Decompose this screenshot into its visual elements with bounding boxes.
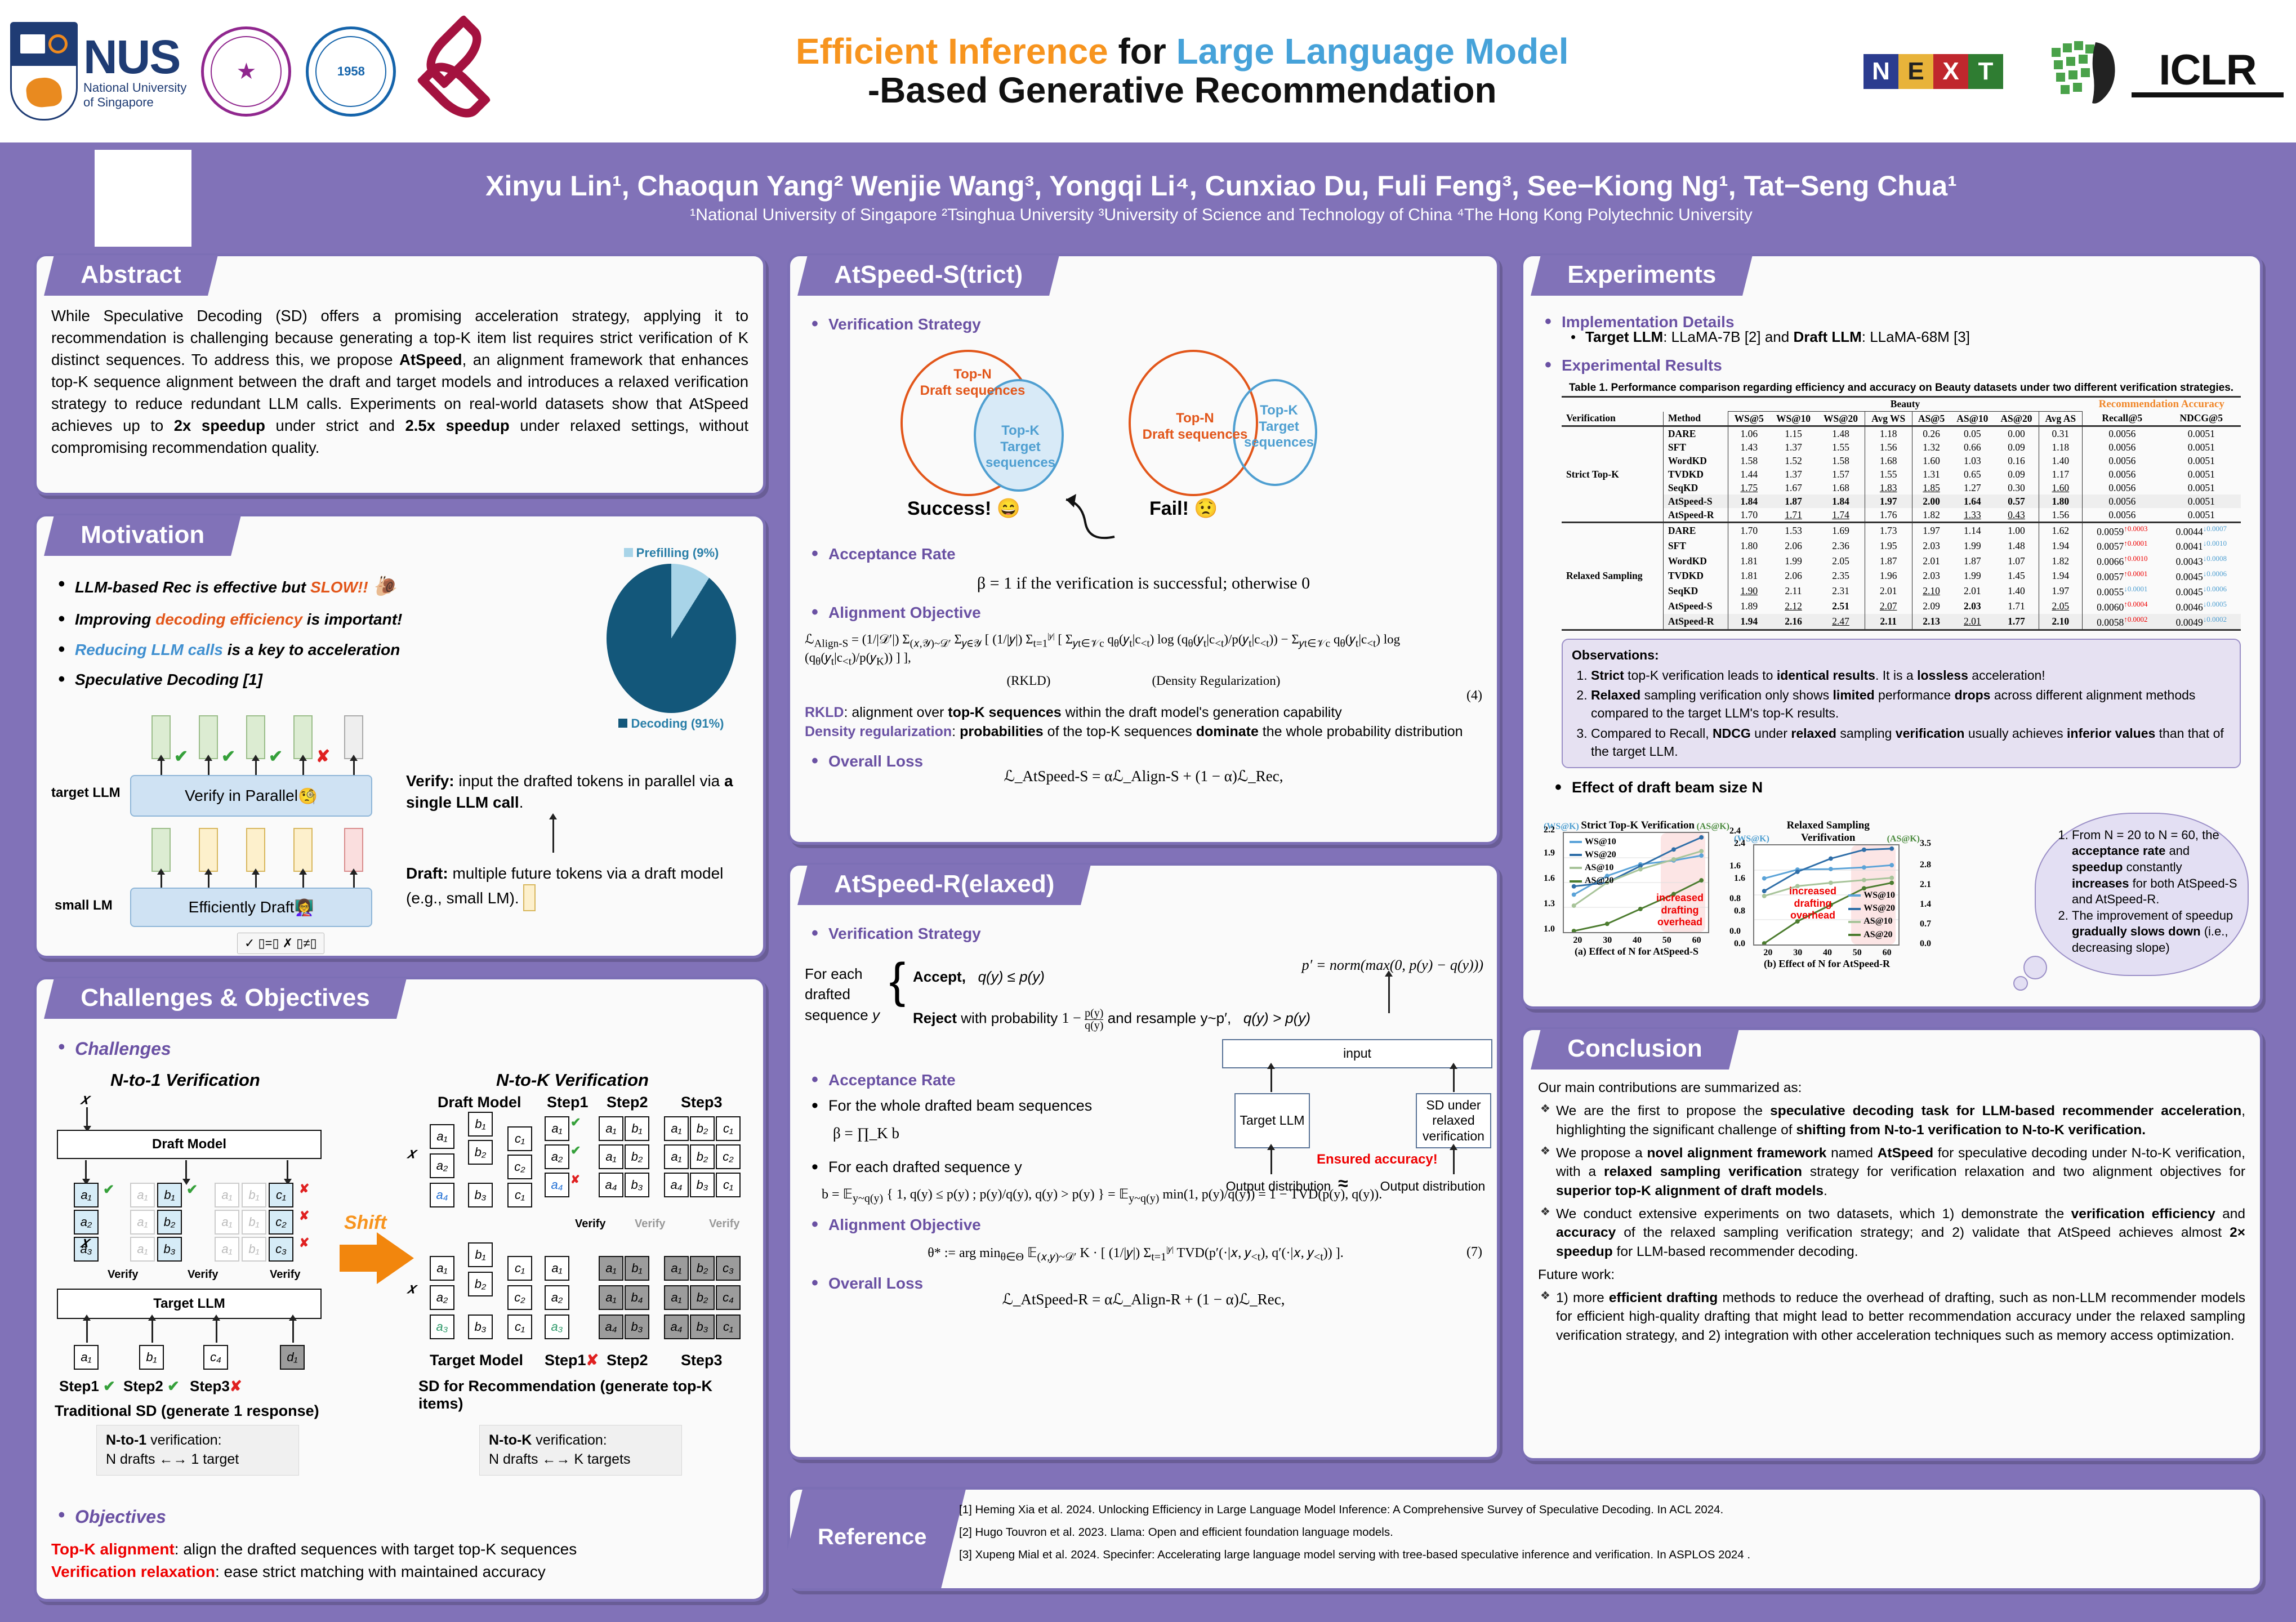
table-cell: 2.09: [1912, 599, 1950, 614]
table-method-cell: SeqKD: [1663, 481, 1728, 494]
table-cell: 2.35: [1817, 569, 1865, 584]
table-cell: 1.94: [2039, 538, 2082, 554]
chart-a-plot: WS@10 WS@20 AS@10 AS@20 increased drafti…: [1563, 832, 1709, 933]
table-cell: 2.01: [1950, 583, 1994, 599]
table-cell: 1.17: [2039, 467, 2082, 481]
table-cell: 1.99: [1770, 554, 1817, 569]
verify-label-r2: Verify: [635, 1218, 665, 1231]
author-band: Xinyu Lin¹, Chaoqun Yang² Wenjie Wang³, …: [0, 142, 2296, 253]
table-verification-cell: Relaxed Sampling: [1562, 523, 1663, 630]
draft-model-box-left: Draft Model: [57, 1130, 322, 1159]
table-ndcg-cell: 0.0051: [2162, 454, 2241, 467]
target-llm-box-left: Target LLM: [57, 1289, 322, 1319]
table-ndcg-cell: 0.0044↓0.0007: [2162, 523, 2241, 538]
rkld-brace-label: (RKLD): [1007, 674, 1051, 688]
table-cell: 1.55: [1865, 467, 1912, 481]
n-to-k-heading: N-to-K Verification: [496, 1070, 649, 1090]
poster-header: NUS National University of Singapore ★ 1…: [0, 0, 2296, 142]
table-cell: 1.68: [1817, 481, 1865, 494]
table-cell: 0.30: [1994, 481, 2039, 494]
table-cell: 1.97: [1912, 523, 1950, 538]
density-note: Density regularization: probabilities of…: [805, 723, 1482, 742]
table-cell: 1.97: [2039, 583, 2082, 599]
brain-mosaic-icon: [2048, 38, 2121, 105]
chart-b-rtick-4: 2.8: [1920, 860, 1931, 870]
th-as20: AS@20: [1994, 412, 2039, 426]
chart-b-rtick-2: 1.4: [1920, 899, 1931, 910]
middle-column: AtSpeed-S(trict) Verification Strategy T…: [787, 253, 1500, 845]
chart-a-ylabel-right: (AS@K): [1697, 822, 1729, 832]
th-as5: AS@5: [1912, 412, 1950, 426]
table-cell: 1.81: [1728, 569, 1770, 584]
results-table: Beauty Recommendation Accuracy Verificat…: [1562, 396, 2241, 631]
table-cell: 1.95: [1865, 538, 1912, 554]
table-cell: 2.03: [1950, 599, 1994, 614]
table-cell: 1.57: [1817, 467, 1865, 481]
table-cell: 1.58: [1728, 454, 1770, 467]
chart-b-xtick-1: 30: [1793, 948, 1802, 958]
table-ndcg-cell: 0.0045↓0.0006: [2162, 569, 2241, 584]
atspeed-s-card: AtSpeed-S(trict) Verification Strategy T…: [787, 253, 1500, 845]
motivation-title: Motivation: [44, 515, 241, 556]
atspeed-s-loss-label: Overall Loss: [805, 751, 1482, 772]
challenges-title: Challenges & Objectives: [44, 978, 406, 1019]
accuracy-flow-diagram: input Target LLM SD under relaxed verifi…: [1222, 1039, 1492, 1225]
n-to-k-note: N-to-K verification:N drafts ←→ K target…: [479, 1425, 682, 1476]
table-cell: 1.56: [1865, 440, 1912, 454]
reference-item-1: [1] Heming Xia et al. 2024. Unlocking Ef…: [959, 1499, 2250, 1521]
chart-b-xtick-0: 20: [1763, 948, 1772, 958]
insight-1: From N = 20 to N = 60, the acceptance ra…: [2072, 827, 2241, 908]
table-cell: 1.06: [1728, 426, 1770, 441]
bubble-dot-large: [2023, 956, 2047, 979]
table-cell: 0.65: [1950, 467, 1994, 481]
table-recall-cell: 0.0056: [2083, 481, 2162, 494]
chart-b-rtick-5: 3.5: [1920, 839, 1931, 849]
table-ndcg-cell: 0.0041↓0.0010: [2162, 538, 2241, 554]
table-cell: 2.01: [1950, 614, 1994, 630]
table-row: AtSpeed-S1.892.122.512.072.092.031.712.0…: [1562, 599, 2241, 614]
accept-branch: Accept, q(y) ≤ p(y): [913, 968, 1045, 986]
atspeed-r-title: AtSpeed-R(elaxed): [797, 865, 1091, 905]
chart-a-xtick-2: 40: [1633, 935, 1642, 946]
table-cell: 1.87: [1770, 494, 1817, 508]
table-cell: 0.26: [1912, 426, 1950, 441]
table-cell: 1.48: [1817, 426, 1865, 441]
chart-a-legend-as10: AS@10: [1570, 861, 1616, 874]
sad-face-icon: 😟: [1194, 498, 1218, 519]
table-cell: 1.14: [1950, 523, 1994, 538]
theta-star-eq: θ* := arg minθ∈Θ 𝔼(𝑥,𝑦)~𝒟′ K · [ (1/|𝑦|)…: [805, 1245, 1482, 1264]
table-cell: 2.31: [1817, 583, 1865, 599]
table-cell: 2.10: [1912, 583, 1950, 599]
polyu-logo-icon: [411, 26, 501, 117]
table-method-cell: WordKD: [1663, 454, 1728, 467]
th-ws10: WS@10: [1770, 412, 1817, 426]
chart-b-xtick-2: 40: [1823, 948, 1832, 958]
conclusion-card: Conclusion Our main contributions are su…: [1521, 1027, 2263, 1461]
insight-text: From N = 20 to N = 60, the acceptance ra…: [2055, 827, 2241, 956]
chart-a-ytick-4: 2.2: [1544, 825, 1555, 835]
table-cell: 2.47: [1817, 614, 1865, 630]
atspeed-s-acceptance-eq: β = 1 if the verification is successful;…: [805, 574, 1482, 593]
table-recall-cell: 0.0056: [2083, 440, 2162, 454]
next-logo-icon: NEXT+: [1863, 54, 2038, 89]
table-verification-cell: Strict Top-K: [1562, 426, 1663, 523]
table-cell: 1.80: [1728, 538, 1770, 554]
verify-label-2: Verify: [188, 1268, 218, 1281]
n-to-1-heading: N-to-1 Verification: [110, 1070, 260, 1090]
table-cell: 1.69: [1817, 523, 1865, 538]
table-cell: 2.01: [1912, 554, 1950, 569]
atspeed-r-eq-number: (7): [1466, 1245, 1482, 1260]
table-method-cell: AtSpeed-R: [1663, 508, 1728, 523]
author-affiliations: ¹National University of Singapore ²Tsing…: [146, 205, 2296, 225]
table-cell: 1.07: [1994, 554, 2039, 569]
table-cell: 1.52: [1770, 454, 1817, 467]
pie-legend-prefilling: Prefilling (9%): [590, 546, 753, 560]
conference-logos: NEXT+ ICLR: [1863, 38, 2296, 105]
table-cell: 0.16: [1994, 454, 2039, 467]
chart-a-xtick-1: 30: [1603, 935, 1612, 946]
chart-b-subtitle: (b) Effect of N for AtSpeed-R: [1734, 958, 1920, 970]
table-row: SeqKD1.902.112.312.012.102.011.401.970.0…: [1562, 583, 2241, 599]
table-cell: 1.60: [1912, 454, 1950, 467]
atspeed-r-loss-label: Overall Loss: [805, 1273, 1482, 1294]
objective-2: Verification relaxation: ease strict mat…: [51, 1561, 748, 1583]
nus-subtitle-1: National University: [83, 81, 186, 95]
table-cell: 1.85: [1912, 481, 1950, 494]
atspeed-s-eq-number: (4): [1466, 688, 1482, 703]
table-row: TVDKD1.812.062.351.962.031.991.451.940.0…: [1562, 569, 2241, 584]
motivation-bullet-2: Improving decoding efficiency is importa…: [51, 609, 574, 630]
chart-b-title: Relaxed Sampling Verifivation: [1769, 819, 1887, 844]
table-method-cell: SFT: [1663, 538, 1728, 554]
table-cell: 1.82: [1912, 508, 1950, 523]
venn-diagram: Top-NDraft sequences Top-KTarget sequenc…: [805, 344, 1482, 513]
table-recall-cell: 0.0057↑0.0001: [2083, 569, 2162, 584]
table-cell: 1.40: [1994, 583, 2039, 599]
input-arrow-left: [86, 1107, 88, 1126]
chart-a-xtick-0: 20: [1573, 935, 1582, 946]
table-cell: 1.53: [1770, 523, 1817, 538]
time-breakdown-pie-chart: Prefilling (9%) Decoding (91%): [590, 546, 753, 731]
atspeed-s-acceptance-label: Acceptance Rate: [805, 543, 1482, 565]
table-cell: 1.70: [1728, 523, 1770, 538]
reference-item-3: [3] Xupeng Mial et al. 2024. Specinfer: …: [959, 1544, 2250, 1566]
density-brace-label: (Density Regularization): [1152, 674, 1280, 688]
th-ws5: WS@5: [1728, 412, 1770, 426]
pie-shape: [607, 564, 736, 713]
atspeed-r-acceptance-label: Acceptance Rate: [805, 1070, 1482, 1091]
table-method-cell: WordKD: [1663, 554, 1728, 569]
nus-subtitle-2: of Singapore: [83, 95, 186, 109]
beam-size-label: Effect of draft beam size N: [1548, 777, 2245, 797]
verification-comparison-diagram: N-to-1 Verification 𝑥 Draft Model a₁ a₂ …: [51, 1070, 748, 1442]
table-caption: Table 1. Performance comparison regardin…: [1562, 382, 2241, 394]
table-recall-cell: 0.0058↑0.0002: [2083, 614, 2162, 630]
th-recall5: Recall@5: [2083, 412, 2162, 426]
group-header-accuracy: Recommendation Accuracy: [2083, 396, 2241, 412]
observation-2: Relaxed sampling verification only shows…: [1591, 687, 2231, 722]
table-cell: 1.99: [1950, 538, 1994, 554]
table-cell: 1.43: [1728, 440, 1770, 454]
chart-a-ytick-0: 1.0: [1544, 924, 1555, 934]
reference-title: Reference: [778, 1490, 966, 1588]
note-connector-arrow: [552, 819, 554, 853]
acceptance-bullet-1: For the whole drafted beam sequences: [805, 1095, 1482, 1116]
table-cell: 1.84: [1817, 494, 1865, 508]
table-cell: 2.16: [1770, 614, 1817, 630]
table-cell: 2.07: [1865, 599, 1912, 614]
chart-b-ytick-2: 1.6: [1734, 874, 1745, 884]
chart-b-ytick-3: 2.4: [1734, 839, 1745, 849]
table-cell: 2.11: [1865, 614, 1912, 630]
logo-row: NUS National University of Singapore ★ 1…: [0, 22, 501, 121]
chart-b-plot: WS@10 WS@20 AS@10 AS@20 increased drafti…: [1753, 844, 1900, 946]
table-cell: 1.87: [1950, 554, 1994, 569]
table-cell: 2.51: [1817, 599, 1865, 614]
conclusion-title: Conclusion: [1531, 1029, 1739, 1070]
ustc-year: 1958: [337, 65, 365, 78]
chart-b-ytick-0: 0.0: [1734, 939, 1745, 949]
chart-a-xtick-3: 50: [1662, 935, 1671, 946]
table-method-cell: TVDKD: [1663, 569, 1728, 584]
conclusion-intro: Our main contributions are summarized as…: [1538, 1079, 2245, 1097]
table-cell: 1.56: [2039, 508, 2082, 523]
table-cell: 2.13: [1912, 614, 1950, 630]
table-cell: 1.94: [1728, 614, 1770, 630]
table-row: AtSpeed-R1.701.711.741.761.821.330.431.5…: [1562, 508, 2241, 523]
output-dist-left: Output distribution: [1222, 1179, 1335, 1194]
table-cell: 0.57: [1994, 494, 2039, 508]
chart-b-ytick-1: 0.8: [1734, 906, 1745, 916]
th-method: Method: [1663, 412, 1728, 426]
table-cell: 2.36: [1817, 538, 1865, 554]
verify-label-3: Verify: [270, 1268, 300, 1281]
table-method-cell: DARE: [1663, 523, 1728, 538]
table-ndcg-cell: 0.0051: [2162, 508, 2241, 523]
table-cell: 2.03: [1912, 569, 1950, 584]
table-cell: 1.27: [1950, 481, 1994, 494]
reference-list: [1] Heming Xia et al. 2024. Unlocking Ef…: [959, 1499, 2250, 1566]
table-cell: 1.74: [1817, 508, 1865, 523]
table-cell: 1.81: [1728, 554, 1770, 569]
objective-1: Top-K alignment: align the drafted seque…: [51, 1538, 748, 1560]
right-column: Experiments Implementation Details •Targ…: [1521, 253, 2263, 1009]
challenges-subhead: Challenges: [51, 1037, 748, 1061]
table-cell: 1.60: [2039, 481, 2082, 494]
verify-note: Verify: input the drafted tokens in para…: [406, 770, 744, 813]
table-cell: 2.12: [1770, 599, 1817, 614]
abstract-text: While Speculative Decoding (SD) offers a…: [51, 305, 748, 458]
atspeed-s-verification-label: Verification Strategy: [805, 314, 1482, 335]
nus-wordmark: NUS: [83, 33, 186, 81]
next-plus: +: [2003, 54, 2038, 89]
table-cell: 1.71: [1770, 508, 1817, 523]
table-cell: 0.31: [2039, 426, 2082, 441]
table-ndcg-cell: 0.0046↓0.0005: [2162, 599, 2241, 614]
ustc-seal-icon: 1958: [306, 26, 396, 117]
challenges-card: Challenges & Objectives Challenges N-to-…: [34, 977, 766, 1602]
chart-a-title: Strict Top-K Verification: [1581, 819, 1695, 832]
table-cell: 1.83: [1865, 481, 1912, 494]
table-cell: 1.70: [1728, 508, 1770, 523]
step3-label: Step3: [681, 1094, 723, 1111]
iclr-wordmark: ICLR: [2159, 46, 2256, 95]
table-cell: 1.37: [1770, 467, 1817, 481]
table-ndcg-cell: 0.0051: [2162, 440, 2241, 454]
chart-a-legend-as20: AS@20: [1570, 874, 1616, 887]
table-ndcg-cell: 0.0049↓0.0002: [2162, 614, 2241, 630]
table-cell: 1.58: [1817, 454, 1865, 467]
table-cell: 1.64: [1950, 494, 1994, 508]
abstract-card: Abstract While Speculative Decoding (SD)…: [34, 253, 766, 496]
th-avgas: Avg AS: [2039, 412, 2082, 426]
motivation-bullet-4: Speculative Decoding [1]: [51, 669, 574, 690]
th-ws20: WS@20: [1817, 412, 1865, 426]
table-cell: 1.37: [1770, 440, 1817, 454]
chart-a-ytick-3: 1.9: [1544, 848, 1555, 858]
step3-label-bottom: Step3: [681, 1352, 723, 1369]
step2-label: Step2: [607, 1094, 648, 1111]
chart-b-xtick-3: 50: [1853, 948, 1862, 958]
atspeed-s-title: AtSpeed-S(trict): [797, 255, 1059, 296]
implementation-details-text: •Target LLM: LLaMA-7B [2] and Draft LLM:…: [1585, 328, 2245, 346]
motivation-bullet-3: Reducing LLM calls is a key to accelerat…: [51, 639, 574, 661]
motivation-card: Motivation Prefilling (9%) Decoding (91%…: [34, 514, 766, 959]
output-dist-right: Output distribution: [1371, 1179, 1495, 1194]
experiments-title: Experiments: [1531, 255, 1753, 296]
acceptance-bullet-2: For each drafted sequence y: [805, 1157, 1482, 1177]
draft-note: Draft: multiple future tokens via a draf…: [406, 863, 750, 911]
table-row: Strict Top-KDARE1.061.151.481.180.260.05…: [1562, 426, 2241, 441]
chart-b-rtick-0: 0.0: [1920, 939, 1931, 949]
table-method-cell: DARE: [1663, 426, 1728, 441]
table-cell: 0.66: [1950, 440, 1994, 454]
table-cell: 1.75: [1728, 481, 1770, 494]
insight-2: The improvement of speedup gradually slo…: [2072, 908, 2241, 956]
happy-face-icon: 😄: [997, 498, 1020, 519]
table-cell: 1.32: [1912, 440, 1950, 454]
step1-label: Step1: [547, 1094, 589, 1111]
future-work-label: Future work:: [1538, 1265, 2245, 1284]
curved-arrow-icon: [1047, 486, 1131, 542]
title-part-genrec: Generative Recommendation: [998, 70, 1497, 110]
atspeed-s-alignment-label: Alignment Objective: [805, 602, 1482, 623]
table-cell: 1.55: [1817, 440, 1865, 454]
table-ndcg-cell: 0.0045↓0.0006: [2162, 583, 2241, 599]
table-cell: 1.76: [1865, 508, 1912, 523]
conclusion-item-3: We conduct extensive experiments on two …: [1538, 1205, 2245, 1261]
atspeed-r-alignment-label: Alignment Objective: [805, 1214, 1482, 1236]
table-cell: 1.77: [1994, 614, 2039, 630]
reference-item-2: [2] Hugo Touvron et al. 2023. Llama: Ope…: [959, 1521, 2250, 1544]
verify-label-r1: Verify: [575, 1218, 605, 1231]
chart-a-legend-ws20: WS@20: [1570, 848, 1616, 861]
table-cell: 1.33: [1950, 508, 1994, 523]
table-recall-cell: 0.0056: [2083, 454, 2162, 467]
table-method-cell: SeqKD: [1663, 583, 1728, 599]
table-recall-cell: 0.0055↓0.0001: [2083, 583, 2162, 599]
table-cell: 1.00: [1994, 523, 2039, 538]
for-each-label: For eachdraftedsequence y: [805, 964, 889, 1025]
experiments-card: Experiments Implementation Details •Targ…: [1521, 253, 2263, 1009]
left-caption: Traditional SD (generate 1 response): [55, 1402, 319, 1420]
table-cell: 1.97: [1865, 494, 1912, 508]
observations-title: Observations:: [1572, 647, 2231, 665]
motivation-bullet-1: LLM-based Rec is effective but SLOW!! 🐌: [51, 574, 574, 600]
table-recall-cell: 0.0066↑0.0010: [2083, 554, 2162, 569]
table-row: WordKD1.581.521.581.681.601.030.161.400.…: [1562, 454, 2241, 467]
table-cell: 1.68: [1865, 454, 1912, 467]
th-avgws: Avg WS: [1865, 412, 1912, 426]
verify-in-parallel-box: Verify in Parallel🧐: [130, 775, 372, 817]
th-as10: AS@10: [1950, 412, 1994, 426]
table-cell: 1.96: [1865, 569, 1912, 584]
sd-legend: ✓ ▯=▯ ✗ ▯≠▯: [237, 933, 324, 954]
right-caption: SD for Recommendation (generate top-K it…: [418, 1378, 748, 1412]
table-cell: 1.31: [1912, 467, 1950, 481]
table-row: SFT1.431.371.551.561.320.660.091.180.005…: [1562, 440, 2241, 454]
table-ndcg-cell: 0.0051: [2162, 481, 2241, 494]
table-cell: 0.09: [1994, 440, 2039, 454]
table-cell: 1.87: [1865, 554, 1912, 569]
table-cell: 1.89: [1728, 599, 1770, 614]
table-cell: 1.99: [1950, 569, 1994, 584]
poster-title: Efficient Inference for Large Language M…: [501, 33, 1863, 109]
table-cell: 1.15: [1770, 426, 1817, 441]
atspeed-r-verification-label: Verification Strategy: [805, 923, 1482, 944]
chart-b-legend-as10: AS@10: [1848, 915, 1895, 928]
tsinghua-seal-icon: ★: [201, 26, 291, 117]
chart-b-legend-as20: AS@20: [1848, 928, 1895, 941]
table-method-cell: AtSpeed-S: [1663, 599, 1728, 614]
table-cell: 2.03: [1912, 538, 1950, 554]
table-cell: 1.80: [2039, 494, 2082, 508]
n-to-1-note: N-to-1 verification:N drafts ←→ 1 target: [96, 1425, 299, 1476]
snail-icon: 🐌: [372, 576, 396, 597]
chart-b-annotation: increased drafting overhead: [1787, 885, 1839, 922]
group-header-beauty: Beauty: [1728, 396, 2083, 412]
table-cell: 1.03: [1950, 454, 1994, 467]
table-method-cell: TVDKD: [1663, 467, 1728, 481]
iclr-logo: ICLR: [2132, 46, 2284, 97]
efficiently-draft-box: Efficiently Draft👩‍🏫: [130, 888, 372, 927]
author-names: Xinyu Lin¹, Chaoqun Yang² Wenjie Wang³, …: [146, 171, 2296, 202]
table-cell: 1.44: [1728, 467, 1770, 481]
table-ndcg-cell: 0.0043↓0.0008: [2162, 554, 2241, 569]
left-column: Abstract While Speculative Decoding (SD)…: [34, 253, 766, 496]
table-method-cell: SFT: [1663, 440, 1728, 454]
reference-card: Reference [1] Heming Xia et al. 2024. Un…: [787, 1487, 2263, 1591]
table-cell: 2.05: [2039, 599, 2082, 614]
table-cell: 2.06: [1770, 538, 1817, 554]
chart-b-xtick-4: 60: [1883, 948, 1892, 958]
target-model-label-right: Target Model: [430, 1352, 523, 1369]
experimental-results-label: Experimental Results: [1538, 355, 2245, 376]
table-row: WordKD1.811.992.051.872.011.871.071.820.…: [1562, 554, 2241, 569]
atspeed-s-alignment-eq: ℒAlign-S = (1/|𝒟′|) Σ(𝑥,𝒴)~𝒟′ Σ𝑦∈𝒴 [ (1/…: [805, 632, 1482, 668]
table-cell: 1.18: [2039, 440, 2082, 454]
table-cell: 1.67: [1770, 481, 1817, 494]
step2-label-bottom: Step2: [607, 1352, 648, 1369]
table-cell: 2.00: [1912, 494, 1950, 508]
table-ndcg-cell: 0.0051: [2162, 426, 2241, 441]
abstract-title: Abstract: [44, 255, 217, 296]
th-ndcg5: NDCG@5: [2162, 412, 2241, 426]
table-recall-cell: 0.0056: [2083, 508, 2162, 523]
